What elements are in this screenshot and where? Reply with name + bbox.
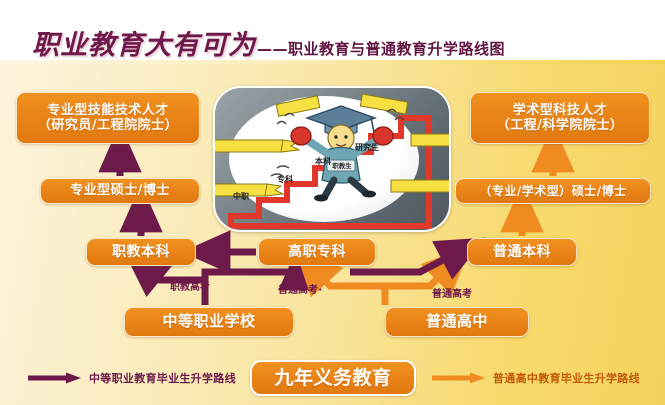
node-regular-high-school[interactable]: 普通高中 xyxy=(385,307,529,337)
page-title: 职业教育大有可为 xyxy=(32,23,256,62)
character-badge-label: 职教生 xyxy=(327,160,357,170)
step-label-yanjiusheng: 研究生 xyxy=(355,142,379,153)
node-academic-master-doctor[interactable]: （专业/学术型）硕士/博士 xyxy=(455,178,651,204)
node-secondary-vocational-school[interactable]: 中等职业学校 xyxy=(124,307,294,337)
path-label-gaokao-right: 普通高考 xyxy=(424,290,480,301)
legend-vocational-label: 中等职业教育毕业生升学路线 xyxy=(89,370,236,386)
node-nine-year-compulsory-education[interactable]: 九年义务教育 xyxy=(250,360,416,396)
legend-arrow-orange-icon xyxy=(432,372,486,384)
legend-arrow-purple-icon xyxy=(28,372,82,384)
legend-regular-label: 普通高中教育毕业生升学路线 xyxy=(493,370,640,386)
node-professional-master-doctor[interactable]: 专业型硕士/博士 xyxy=(40,178,200,204)
infographic-canvas: 职业教育大有可为 ——职业教育与普通教育升学路线图 xyxy=(0,0,665,405)
legend-regular-route: 普通高中教育毕业生升学路线 xyxy=(432,370,640,386)
page-subtitle: ——职业教育与普通教育升学路线图 xyxy=(257,38,505,62)
node-right-top-line1: 学术型科技人才 xyxy=(513,103,608,118)
illustration-art xyxy=(215,88,449,230)
step-label-zhuanke: 专科 xyxy=(277,174,293,185)
path-label-gaokao-middle: 普通高考 xyxy=(270,286,326,297)
legend-vocational-route: 中等职业教育毕业生升学路线 xyxy=(28,370,236,386)
node-left-top-line1: 专业型技能技术人才 xyxy=(47,103,169,118)
path-label-vocational-exam: 职教高考 xyxy=(170,283,210,294)
node-left-top-line2: （研究员/工程院院士） xyxy=(38,118,178,133)
node-vocational-undergraduate[interactable]: 职教本科 xyxy=(86,238,196,266)
graduate-character-icon xyxy=(291,106,393,202)
node-higher-vocational-college[interactable]: 高职专科 xyxy=(258,238,376,266)
node-regular-undergraduate[interactable]: 普通本科 xyxy=(467,238,577,266)
central-illustration: 职教生 中职 专科 本科 研究生 xyxy=(213,86,451,232)
title-bar: 职业教育大有可为 ——职业教育与普通教育升学路线图 xyxy=(0,22,665,62)
step-label-zhongzhi: 中职 xyxy=(233,191,249,202)
node-professional-talent[interactable]: 专业型技能技术人才 （研究员/工程院院士） xyxy=(16,92,200,144)
node-academic-talent[interactable]: 学术型科技人才 （工程/科学院院士） xyxy=(470,92,650,144)
step-label-benke: 本科 xyxy=(315,156,331,167)
node-right-top-line2: （工程/科学院院士） xyxy=(497,118,624,133)
